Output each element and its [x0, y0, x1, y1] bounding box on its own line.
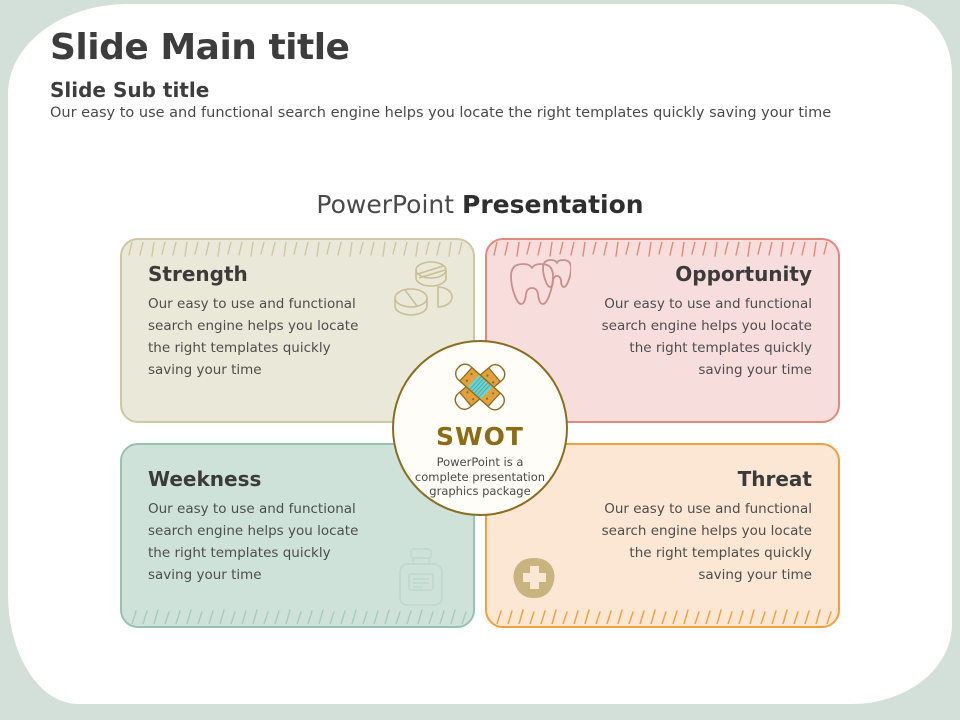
crossed-bandages-icon [449, 358, 511, 420]
card-body: Our easy to use and functional search en… [587, 294, 812, 381]
card-body: Our easy to use and functional search en… [148, 499, 373, 586]
card-body: Our easy to use and functional search en… [148, 294, 373, 381]
section-heading-light: PowerPoint [316, 190, 462, 219]
hatch-decoration-bottom [487, 608, 838, 624]
slide-root: Slide Main title Slide Sub title Our eas… [0, 0, 960, 720]
slide-header: Slide Main title Slide Sub title Our eas… [50, 28, 920, 123]
card-title: Opportunity [513, 262, 812, 286]
swot-description: PowerPoint is a complete presentation gr… [410, 455, 550, 499]
page-title: Slide Main title [50, 28, 920, 68]
section-heading: PowerPoint Presentation [0, 190, 960, 219]
swot-label: SWOT [436, 424, 524, 449]
page-subtitle: Slide Sub title [50, 78, 920, 102]
card-body: Our easy to use and functional search en… [587, 499, 812, 586]
swot-center-circle[interactable]: SWOT PowerPoint is a complete presentati… [392, 340, 568, 516]
hatch-decoration-bottom [122, 608, 473, 624]
card-title: Threat [513, 467, 812, 491]
card-title: Strength [148, 262, 447, 286]
page-lead-text: Our easy to use and functional search en… [50, 104, 920, 124]
section-heading-bold: Presentation [462, 190, 644, 219]
